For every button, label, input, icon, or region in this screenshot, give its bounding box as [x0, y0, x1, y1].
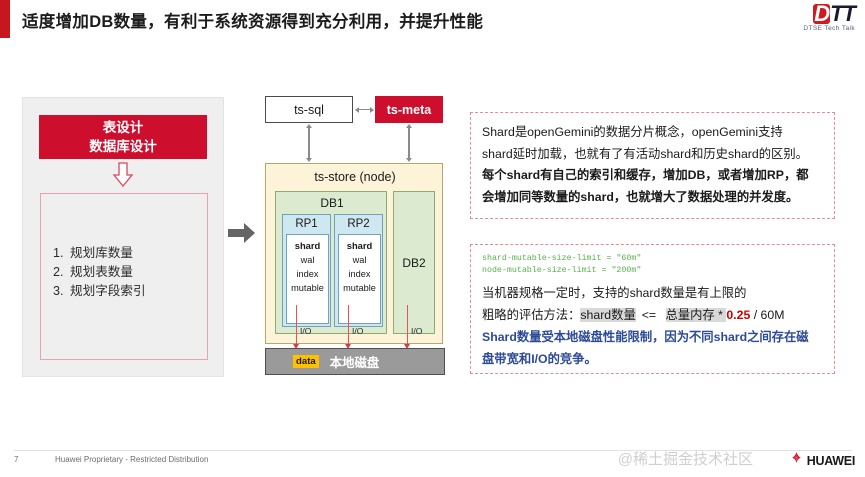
list-item-number: 3. — [53, 282, 70, 301]
list-item: 1.规划库数量 — [53, 244, 146, 263]
planning-box: 1.规划库数量 2.规划表数量 3.规划字段索引 — [40, 193, 208, 360]
list-item: 3.规划字段索引 — [53, 282, 146, 301]
node-rp1-label: RP1 — [283, 218, 330, 230]
list-item: 2.规划表数量 — [53, 263, 146, 282]
shard-limit-note-body: shard-mutable-size-limit = "60m" node-mu… — [471, 245, 834, 370]
io-label-3: I/O — [411, 326, 422, 336]
page-number: 7 — [14, 455, 18, 464]
list-item-label: 规划库数量 — [70, 246, 133, 260]
shard-concept-note-body: Shard是openGemini的数据分片概念，openGemini支持 sha… — [471, 113, 834, 208]
huawei-flower-icon — [789, 451, 804, 470]
connector-sql-store-arrow-up — [306, 124, 312, 128]
shard-item-mutable: mutable — [287, 281, 328, 295]
dtt-logo: DTT DTSE Tech Talk — [769, 4, 855, 38]
note-line: 会增加同等数量的shard，也就增大了数据处理的并发度。 — [482, 187, 834, 209]
limit-line-2-term-shard: shard数量 — [580, 308, 635, 322]
config-line-shard-mutable: shard-mutable-size-limit = "60m" — [482, 253, 834, 265]
limit-line-2-coefficient: 0.25 — [726, 308, 750, 322]
list-item-label: 规划字段索引 — [70, 284, 146, 298]
list-item-label: 规划表数量 — [70, 265, 133, 279]
node-local-disk: data 本地磁盘 — [265, 348, 445, 375]
io-line-3 — [407, 305, 408, 346]
node-ts-sql: ts-sql — [265, 96, 353, 123]
shard-item-mutable: mutable — [339, 281, 380, 295]
io-line-2 — [348, 305, 349, 346]
node-ts-store-label: ts-store (node) — [266, 170, 444, 184]
node-rp2: RP2 shard wal index mutable — [334, 214, 383, 327]
slide-header: 适度增加DB数量，有利于系统资源得到充分利用，并提升性能 DTT DTSE Te… — [0, 0, 865, 48]
disk-data-tag: data — [293, 355, 319, 368]
shard-item-index: index — [287, 267, 328, 281]
note-line: shard延时加载，也就有了有活动shard和历史shard的区别。 — [482, 144, 834, 166]
architecture-diagram: ts-sql ts-meta ts-store (node) DB1 RP1 s… — [258, 90, 458, 375]
node-ts-meta: ts-meta — [375, 96, 443, 123]
shard-concept-note: Shard是openGemini的数据分片概念，openGemini支持 sha… — [470, 112, 835, 219]
planning-list: 1.规划库数量 2.规划表数量 3.规划字段索引 — [53, 244, 146, 301]
huawei-logo: HUAWEI — [789, 451, 855, 470]
io-line-1 — [296, 305, 297, 346]
connector-sql-meta-arrow-left — [355, 107, 359, 113]
connector-meta-store-arrow-down — [406, 158, 412, 162]
note-line: 每个shard有自己的索引和缓存，增加DB，或者增加RP，都 — [482, 165, 834, 187]
connector-sql-store — [308, 128, 309, 158]
design-header-line-1: 表设计 — [103, 118, 144, 137]
limit-line-2: 粗略的评估方法：shard数量<= 总量内存 * 0.25 / 60M — [482, 304, 834, 326]
shard-item-wal: wal — [339, 253, 380, 267]
limit-line-2-tail: / 60M — [750, 308, 784, 322]
limit-line-2-term-memory: 总量内存 * — [666, 308, 727, 322]
limit-line-2-prefix: 粗略的评估方法： — [482, 308, 580, 322]
limit-line-4: 盘带宽和I/O的竞争。 — [482, 348, 834, 370]
limit-line-1: 当机器规格一定时，支持的shard数量是有上限的 — [482, 282, 834, 304]
down-arrow-wrap — [23, 162, 223, 193]
shard-item-wal: wal — [287, 253, 328, 267]
config-line-node-mutable: node-mutable-size-limit = "200m" — [482, 265, 834, 277]
dtt-logo-d-glyph: D — [813, 4, 830, 24]
footer-note: Huawei Proprietary - Restricted Distribu… — [55, 455, 208, 464]
node-rp2-shard: shard wal index mutable — [338, 234, 381, 324]
design-header-box: 表设计 数据库设计 — [39, 115, 207, 159]
connector-meta-store-arrow-up — [406, 124, 412, 128]
list-item-number: 2. — [53, 263, 70, 282]
shard-title: shard — [339, 239, 380, 253]
shard-limit-note: shard-mutable-size-limit = "60m" node-mu… — [470, 244, 835, 374]
right-arrow-icon — [228, 222, 256, 244]
title-accent-bar — [0, 0, 10, 38]
connector-sql-meta-arrow-right — [370, 107, 374, 113]
shard-item-index: index — [339, 267, 380, 281]
node-rp2-label: RP2 — [335, 218, 382, 230]
watermark: @稀土掘金技术社区 — [618, 448, 753, 469]
dtt-logo-mark: DTT — [769, 4, 855, 24]
node-db1-label: DB1 — [276, 196, 388, 210]
node-rp1-shard: shard wal index mutable — [286, 234, 329, 324]
huawei-wordmark: HUAWEI — [807, 454, 855, 468]
dtt-logo-tt: TT — [830, 1, 855, 26]
node-db2: DB2 — [393, 191, 435, 334]
down-arrow-icon — [111, 162, 135, 193]
page-title: 适度增加DB数量，有利于系统资源得到充分利用，并提升性能 — [22, 8, 483, 32]
limit-line-2-operator: <= — [636, 308, 666, 322]
design-header-line-2: 数据库设计 — [89, 137, 157, 156]
connector-sql-store-arrow-down — [306, 158, 312, 162]
note-line: Shard是openGemini的数据分片概念，openGemini支持 — [482, 122, 834, 144]
node-rp1: RP1 shard wal index mutable — [282, 214, 331, 327]
connector-meta-store — [408, 128, 409, 158]
io-label-2: I/O — [352, 326, 363, 336]
io-label-1: I/O — [300, 326, 311, 336]
list-item-number: 1. — [53, 244, 70, 263]
shard-title: shard — [287, 239, 328, 253]
limit-line-3: Shard数量受本地磁盘性能限制，因为不同shard之间存在磁 — [482, 326, 834, 348]
node-db1: DB1 RP1 shard wal index mutable RP2 shar… — [275, 191, 387, 334]
table-design-panel: 表设计 数据库设计 1.规划库数量 2.规划表数量 3.规划字段索引 — [22, 97, 224, 377]
disk-label: 本地磁盘 — [330, 353, 380, 371]
dtt-logo-subtitle: DTSE Tech Talk — [769, 25, 855, 32]
node-ts-store: ts-store (node) DB1 RP1 shard wal index … — [265, 163, 443, 344]
